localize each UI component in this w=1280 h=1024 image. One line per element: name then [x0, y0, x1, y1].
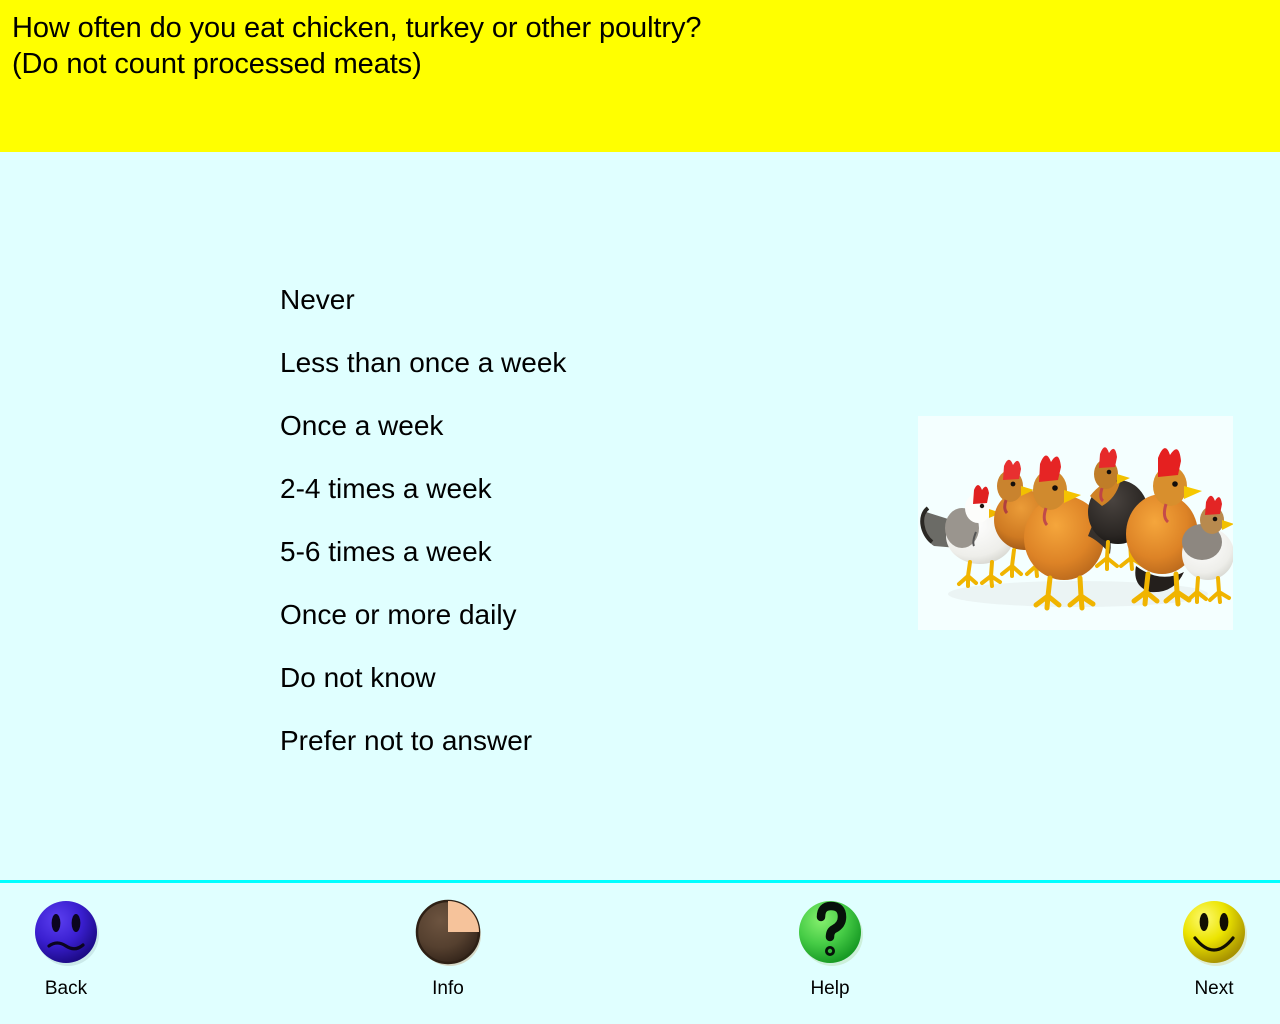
question-text-line-2: (Do not count processed meats): [12, 46, 1280, 82]
questionnaire-screen: How often do you eat chicken, turkey or …: [0, 0, 1280, 1024]
chickens-photo: [918, 416, 1233, 630]
back-button-label: Back: [6, 977, 126, 1001]
back-button[interactable]: Back: [6, 895, 126, 1001]
footer-toolbar: Back Info: [0, 883, 1280, 1024]
answer-options-list: Never Less than once a week Once a week …: [280, 268, 900, 772]
answer-option-once-a-week[interactable]: Once a week: [280, 394, 900, 457]
info-button-label: Info: [388, 977, 508, 1001]
blue-neutral-face-icon: [30, 895, 102, 967]
question-text-line-1: How often do you eat chicken, turkey or …: [12, 10, 1280, 46]
help-button-label: Help: [770, 977, 890, 1001]
next-button-label: Next: [1154, 977, 1274, 1001]
answer-option-do-not-know[interactable]: Do not know: [280, 646, 900, 709]
question-banner: How often do you eat chicken, turkey or …: [0, 0, 1280, 152]
brown-pie-chart-icon: [412, 895, 484, 967]
answer-option-prefer-not-answer[interactable]: Prefer not to answer: [280, 709, 900, 772]
green-question-mark-icon: [794, 895, 866, 967]
answer-option-2-4-times-week[interactable]: 2-4 times a week: [280, 457, 900, 520]
answer-option-5-6-times-week[interactable]: 5-6 times a week: [280, 520, 900, 583]
info-button[interactable]: Info: [388, 895, 508, 1001]
yellow-smiley-face-icon: [1178, 895, 1250, 967]
answer-option-less-than-once-week[interactable]: Less than once a week: [280, 331, 900, 394]
next-button[interactable]: Next: [1154, 895, 1274, 1001]
help-button[interactable]: Help: [770, 895, 890, 1001]
answer-option-never[interactable]: Never: [280, 268, 900, 331]
answer-option-once-or-more-daily[interactable]: Once or more daily: [280, 583, 900, 646]
